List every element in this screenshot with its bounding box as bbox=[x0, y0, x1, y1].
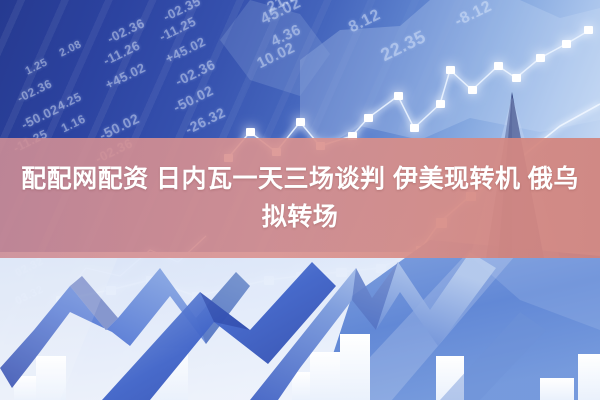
ticker-number: -02.36 bbox=[105, 15, 147, 46]
map-silhouette bbox=[220, 0, 600, 150]
ticker-number: 22.35 bbox=[377, 26, 429, 66]
ticker-number: 8.12 bbox=[346, 6, 384, 37]
banner-image: -50.02-02.361.25-11.252.081.164.25-02.36… bbox=[0, 0, 600, 400]
headline-text: 配配网配资 日内瓦一天三场谈判 伊美现转机 俄乌拟转场 bbox=[10, 160, 590, 236]
ticker-number: -26.32 bbox=[182, 104, 227, 137]
ticker-number: 10.02 bbox=[254, 39, 297, 72]
ticker-number: 45.02 bbox=[258, 0, 304, 29]
bar-chart-bars bbox=[14, 334, 600, 400]
ticker-number: 4.36 bbox=[268, 21, 303, 50]
ticker-number: -11.26 bbox=[101, 38, 143, 69]
ticker-number: -50.02 bbox=[19, 101, 61, 132]
ticker-number: 02.32 bbox=[13, 255, 45, 279]
ticker-number: +45.02 bbox=[163, 34, 208, 66]
ticker-number: -02.35 bbox=[161, 0, 203, 24]
ticker-number: -8.12 bbox=[452, 0, 495, 31]
ticker-number: -02.36 bbox=[172, 56, 217, 89]
ticker-number: 21.08 bbox=[264, 0, 307, 16]
blue-field-right bbox=[318, 240, 600, 400]
light-shaft bbox=[330, 250, 520, 400]
ribbon-arrows bbox=[0, 252, 546, 400]
ticker-number: 1.16 bbox=[59, 112, 88, 136]
lower-background bbox=[0, 252, 600, 400]
blue-field-highlight bbox=[470, 256, 600, 330]
ticker-number: 4.25 bbox=[55, 90, 84, 114]
lower-left-glint bbox=[0, 252, 120, 400]
ticker-number: +45.02 bbox=[103, 60, 148, 92]
ticker-number: -11.25 bbox=[157, 14, 199, 45]
ticker-number: -02.36 bbox=[15, 76, 54, 105]
ticker-number: -50.02 bbox=[170, 82, 215, 115]
ticker-number: 1.25 bbox=[23, 56, 49, 77]
ticker-number: 2.08 bbox=[57, 38, 83, 59]
ticker-number: 03.32 bbox=[13, 283, 45, 307]
headline-container: 配配网配资 日内瓦一天三场谈判 伊美现转机 俄乌拟转场 bbox=[0, 138, 600, 258]
